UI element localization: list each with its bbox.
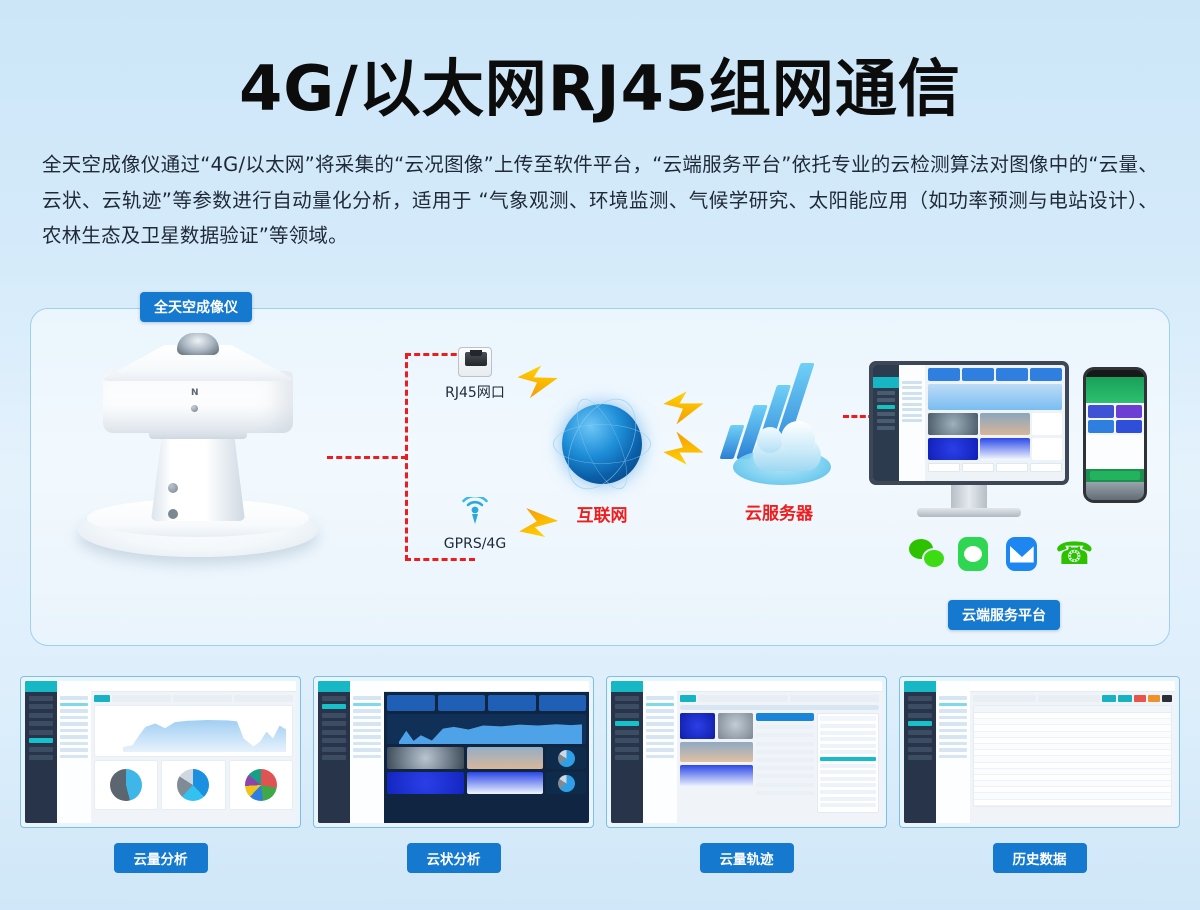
tree-node <box>353 716 381 720</box>
table-toolbar <box>973 695 1172 702</box>
detail-action-button[interactable] <box>756 713 814 721</box>
software-screenshot <box>318 681 589 823</box>
toolbar-button <box>173 695 232 702</box>
phone-screen <box>1086 370 1144 500</box>
screenshot-topbar <box>91 681 296 692</box>
panorama-image <box>680 742 753 762</box>
list-header <box>820 716 876 721</box>
chart-area-fill <box>399 722 582 744</box>
thumbnail-frame[interactable] <box>899 676 1180 828</box>
sidebar-item <box>322 730 346 735</box>
sky-image <box>467 747 544 769</box>
tree-node <box>646 755 674 759</box>
phone-tile <box>1088 405 1114 418</box>
phone-tile <box>1116 405 1142 418</box>
screenshot-content <box>970 692 1175 823</box>
tree-node <box>939 742 967 746</box>
node-gprs: GPRS/4G <box>429 497 521 552</box>
list-item <box>820 797 876 801</box>
detail-row <box>756 783 814 787</box>
connection-bracket <box>327 353 407 561</box>
sidebar-item <box>877 398 895 402</box>
stat-card <box>996 368 1028 381</box>
toolbar-button-danger <box>1134 695 1146 702</box>
thumbnail-caption: 云状分析 <box>313 843 594 873</box>
image-viewer <box>680 713 753 813</box>
table-header-row <box>974 706 1171 713</box>
monitor-neck <box>951 485 987 509</box>
toolbar-button <box>680 695 696 702</box>
sidebar-item <box>908 755 932 760</box>
sidebar-item <box>877 426 895 430</box>
detail-row <box>756 742 814 746</box>
phone-photo-strip <box>1086 482 1144 500</box>
thumbnail-label: 云量分析 <box>114 843 208 873</box>
sidebar-logo <box>25 681 57 692</box>
gallery-item-history-data[interactable]: 历史数据 <box>899 676 1180 873</box>
page-title: 4G/以太网RJ45组网通信 <box>0 0 1200 121</box>
tree-node <box>902 408 922 411</box>
history-data-table <box>973 705 1172 807</box>
thumbnail-caption: 云量轨迹 <box>606 843 887 873</box>
tree-node-selected <box>939 703 967 707</box>
screenshot-sidebar <box>318 681 350 823</box>
toolbar-button-primary <box>1102 695 1116 702</box>
network-topology-diagram: N RJ45网口 GPRS/4G 互联网 <box>30 308 1170 646</box>
screenshot-topbar <box>677 681 882 692</box>
message-bubble-icon <box>958 537 989 571</box>
tree-node <box>60 748 88 752</box>
lightning-bolt-icon <box>661 429 704 467</box>
cloud-shape-area-chart <box>387 714 586 744</box>
thumbnail-frame[interactable] <box>313 676 594 828</box>
sidebar-item-active <box>908 721 932 726</box>
internet-label: 互联网 <box>543 501 661 526</box>
sidebar-item <box>908 713 932 718</box>
sidebar-item <box>29 704 53 709</box>
tree-node <box>60 709 88 713</box>
image-pair <box>680 713 753 739</box>
sidebar-item <box>908 738 932 743</box>
stat-card <box>387 695 435 711</box>
tree-node <box>353 696 381 700</box>
toolbar-button <box>94 695 110 702</box>
image-row <box>928 438 1062 460</box>
tree-node-selected <box>60 703 88 707</box>
gallery-item-cloud-amount[interactable]: 云量分析 <box>20 676 301 873</box>
cloud-amount-line-chart <box>94 705 293 757</box>
sidebar-item <box>29 755 53 760</box>
toolbar-button <box>698 695 788 702</box>
footer-cell <box>996 463 1028 472</box>
stat-card-row <box>387 695 586 711</box>
screenshot-content <box>677 692 882 823</box>
toolbar-button <box>973 695 1036 702</box>
gallery-item-cloud-trajectory[interactable]: 云量轨迹 <box>606 676 887 873</box>
area-chart <box>928 384 1062 410</box>
tree-node <box>353 755 381 759</box>
intro-paragraph: 全天空成像仪通过“4G/以太网”将采集的“云况图像”上传至软件平台，“云端服务平… <box>42 147 1158 253</box>
viewer-row <box>680 713 879 813</box>
tree-node <box>646 696 674 700</box>
sidebar-item <box>908 730 932 735</box>
sidebar-item <box>322 747 346 752</box>
tree-node <box>60 729 88 733</box>
device-stem <box>151 431 245 521</box>
tree-node <box>939 729 967 733</box>
bracket-bottom-line <box>405 558 475 561</box>
list-item <box>820 724 876 728</box>
sidebar-item <box>615 713 639 718</box>
screenshot-sidebar <box>904 681 936 823</box>
tree-node <box>646 722 674 726</box>
device-caption-badge: 全天空成像仪 <box>140 292 252 322</box>
sidebar-item <box>29 713 53 718</box>
detail-row <box>756 774 814 778</box>
pie-chart <box>1032 438 1062 460</box>
phone-tile <box>1088 420 1114 433</box>
detail-row <box>756 758 814 762</box>
sidebar-item <box>908 704 932 709</box>
sidebar-item <box>877 419 895 423</box>
sidebar-item-active <box>29 738 53 743</box>
stat-card <box>1030 368 1062 381</box>
mobile-phone <box>1083 367 1147 503</box>
tree-node <box>939 722 967 726</box>
tree-node <box>646 735 674 739</box>
device-port-icon <box>191 405 198 412</box>
sky-image <box>387 772 464 794</box>
envelope-icon <box>1006 537 1037 571</box>
stat-card <box>928 368 960 381</box>
image-row <box>928 413 1062 435</box>
tree-node <box>353 722 381 726</box>
sidebar-item <box>877 412 895 416</box>
tree-node <box>939 709 967 713</box>
sidebar-item-active <box>322 704 346 709</box>
sky-image-raw <box>718 713 753 739</box>
tree-node <box>646 709 674 713</box>
tree-node <box>902 419 922 422</box>
list-item <box>820 790 876 794</box>
sky-image-processed <box>680 713 715 739</box>
tree-node <box>353 709 381 713</box>
sidebar-item <box>615 696 639 701</box>
detail-panel <box>756 713 814 813</box>
internet-globe-icon <box>553 395 651 493</box>
north-marking-label: N <box>191 388 199 398</box>
footer-cells <box>928 463 1062 472</box>
tree-node <box>353 748 381 752</box>
thumbnail-caption: 云量分析 <box>20 843 301 873</box>
sidebar-item <box>615 704 639 709</box>
screenshot-body <box>677 681 882 823</box>
bubble-shape <box>964 546 982 562</box>
tree-node <box>353 735 381 739</box>
tree-node <box>353 742 381 746</box>
dashboard-sidebar <box>873 365 899 481</box>
playback-slider[interactable] <box>680 705 879 710</box>
image-row <box>387 772 586 794</box>
toolbar-button <box>234 695 293 702</box>
sky-image <box>928 413 978 435</box>
footer-cell <box>1030 463 1062 472</box>
screenshot-topbar <box>384 681 589 692</box>
list-item <box>820 744 876 748</box>
pie-chart-panel <box>94 760 158 810</box>
list-item <box>820 737 876 741</box>
sidebar-item <box>322 696 346 701</box>
list-item <box>820 764 876 768</box>
bracket-device-line <box>327 456 407 459</box>
rj45-port-icon <box>458 347 492 377</box>
thumbnail-label: 云量轨迹 <box>700 843 794 873</box>
screenshot-sidebar <box>611 681 643 823</box>
stat-card <box>539 695 587 711</box>
monitor-dashboard <box>873 365 1065 481</box>
sidebar-item <box>615 730 639 735</box>
panorama-image-processed <box>680 765 753 787</box>
sidebar-item <box>615 747 639 752</box>
list-item <box>820 803 876 807</box>
sidebar-logo <box>904 681 936 692</box>
cloud-server-label: 云服务器 <box>719 499 839 524</box>
screenshot-body <box>384 681 589 823</box>
fisheye-lens-icon <box>177 333 219 355</box>
sky-image <box>467 772 544 794</box>
pie-chart <box>110 769 142 801</box>
device-tree-panel <box>936 681 970 823</box>
detail-row <box>756 750 814 754</box>
cloud-shape-icon <box>753 437 821 471</box>
toolbar-button <box>790 695 880 702</box>
screenshot-sidebar <box>25 681 57 823</box>
tree-node <box>902 397 922 400</box>
sidebar-item <box>29 696 53 701</box>
tree-node <box>902 392 922 395</box>
software-screenshot <box>904 681 1175 823</box>
pie-chart <box>558 750 575 767</box>
list-item <box>820 731 876 735</box>
node-rj45: RJ45网口 <box>429 347 521 402</box>
screenshot-content <box>91 692 296 823</box>
screenshot-content <box>384 692 589 823</box>
pie-chart <box>558 775 575 792</box>
detail-row <box>756 766 814 770</box>
pie-chart <box>177 769 209 801</box>
tree-node <box>902 386 922 389</box>
image-row <box>387 747 586 769</box>
sidebar-item <box>29 730 53 735</box>
node-gprs-label: GPRS/4G <box>429 536 521 552</box>
dashboard-main <box>925 365 1065 481</box>
screenshot-gallery: 云量分析 <box>20 676 1180 873</box>
pie-chart <box>1032 413 1062 435</box>
gallery-item-cloud-shape[interactable]: 云状分析 <box>313 676 594 873</box>
tree-node <box>646 742 674 746</box>
monitor-screen <box>869 361 1069 485</box>
notification-channel-icons: ☎ <box>909 537 1089 571</box>
thumbnail-caption: 历史数据 <box>899 843 1180 873</box>
sky-image <box>928 438 978 460</box>
footer-cell <box>962 463 994 472</box>
tree-node <box>939 748 967 752</box>
sidebar-item-active <box>877 405 895 409</box>
screenshot-body <box>970 681 1175 823</box>
tree-node <box>60 742 88 746</box>
device-tree-panel <box>350 681 384 823</box>
sidebar-item <box>908 696 932 701</box>
thumbnail-frame[interactable] <box>20 676 301 828</box>
toolbar-button-dark <box>1162 695 1172 702</box>
sidebar-item <box>322 755 346 760</box>
node-rj45-label: RJ45网口 <box>429 382 521 402</box>
screenshot-topbar <box>970 681 1175 692</box>
pie-chart-row <box>94 760 293 810</box>
tree-node <box>939 735 967 739</box>
wifi-signal-icon <box>455 497 495 527</box>
table-row <box>974 800 1171 806</box>
thumbnail-label: 历史数据 <box>993 843 1087 873</box>
phone-status-bar <box>1086 370 1144 377</box>
sidebar-item <box>322 713 346 718</box>
thumbnail-frame[interactable] <box>606 676 887 828</box>
device-tree-panel <box>57 681 91 823</box>
footer-cell <box>928 463 960 472</box>
stat-card <box>962 368 994 381</box>
chart-area-fill <box>123 718 287 752</box>
tree-node <box>939 716 967 720</box>
sky-image <box>387 747 464 769</box>
pie-chart-panel <box>229 760 293 810</box>
tree-node <box>902 403 922 406</box>
sidebar-item-active <box>615 721 639 726</box>
phone-data-grid <box>1086 435 1144 469</box>
filter-toolbar <box>94 695 293 702</box>
sky-image <box>980 413 1030 435</box>
list-item <box>820 783 876 787</box>
lightning-bolt-icon <box>661 389 704 427</box>
phone-tiles <box>1086 403 1144 435</box>
sidebar-item <box>322 738 346 743</box>
tree-node-selected <box>353 703 381 707</box>
software-screenshot <box>611 681 882 823</box>
platform-caption-badge: 云端服务平台 <box>948 600 1060 630</box>
tree-node <box>902 381 922 384</box>
tree-node-selected <box>646 703 674 707</box>
detail-row <box>756 733 814 737</box>
detail-row <box>756 725 814 729</box>
toolbar-button-warning <box>1148 695 1160 702</box>
wechat-icon <box>909 537 940 571</box>
list-item <box>820 750 876 754</box>
list-item <box>820 777 876 781</box>
pie-chart-panel <box>161 760 225 810</box>
sidebar-logo <box>611 681 643 692</box>
toolbar-button <box>112 695 171 702</box>
sidebar-item <box>877 391 895 395</box>
sidebar-logo <box>318 681 350 692</box>
phone-action-button <box>1090 471 1140 480</box>
sky-image <box>980 438 1030 460</box>
tree-node <box>60 735 88 739</box>
cloud-server-icon <box>719 375 839 495</box>
tree-node <box>646 729 674 733</box>
device-tree-panel <box>643 681 677 823</box>
software-screenshot <box>25 681 296 823</box>
thumbnail-label: 云状分析 <box>407 843 501 873</box>
sidebar-item <box>29 721 53 726</box>
list-item-selected <box>820 757 876 761</box>
sidebar-item <box>908 747 932 752</box>
pie-chart <box>245 769 277 801</box>
sidebar-logo <box>873 377 899 388</box>
stat-card-row <box>928 368 1062 381</box>
tree-node <box>353 729 381 733</box>
tree-node <box>646 748 674 752</box>
filter-toolbar <box>680 695 879 702</box>
tree-node <box>939 696 967 700</box>
sidebar-item <box>29 747 53 752</box>
timestamp-list <box>817 713 879 813</box>
monitor-foot <box>917 508 1021 517</box>
phone-header <box>1086 377 1144 403</box>
list-item <box>820 770 876 774</box>
stat-card <box>438 695 486 711</box>
tree-node <box>60 722 88 726</box>
pie-chart-panel <box>546 747 586 769</box>
detail-row <box>756 791 814 795</box>
stat-card <box>488 695 536 711</box>
tree-node <box>902 414 922 417</box>
globe-ring <box>553 424 651 463</box>
toolbar-button-primary <box>1118 695 1132 702</box>
phone-tile <box>1116 420 1142 433</box>
sidebar-item <box>615 738 639 743</box>
envelope-shape <box>1010 546 1034 563</box>
tree-node <box>60 696 88 700</box>
sidebar-item <box>322 721 346 726</box>
tree-node <box>646 716 674 720</box>
dashboard-device-tree <box>899 365 925 481</box>
all-sky-imager-device: N <box>73 331 323 581</box>
toolbar-button <box>1038 695 1101 702</box>
tree-node <box>60 716 88 720</box>
phone-call-icon: ☎ <box>1055 537 1089 571</box>
pie-chart-panel <box>546 772 586 794</box>
playback-controls <box>680 705 879 710</box>
screenshot-body <box>91 681 296 823</box>
sidebar-item <box>615 755 639 760</box>
desktop-monitor <box>869 361 1079 531</box>
tree-node <box>60 755 88 759</box>
tree-node <box>939 755 967 759</box>
